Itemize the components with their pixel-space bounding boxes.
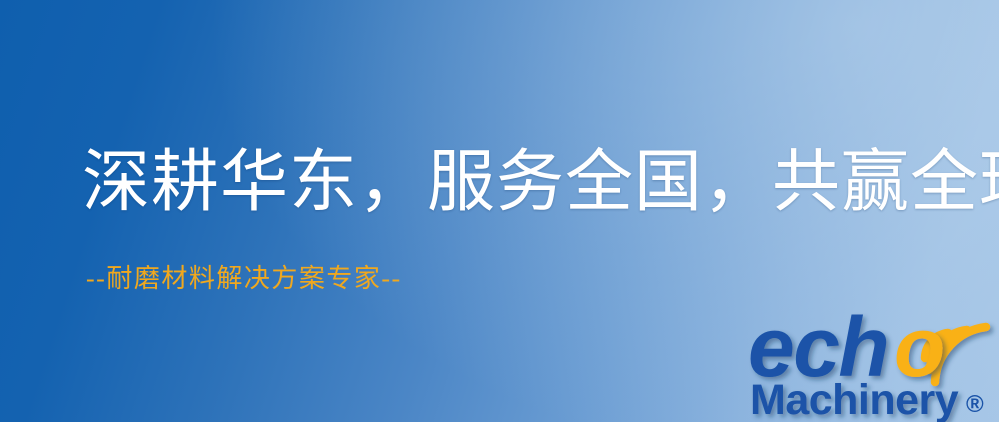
promo-banner: 深耕华东，服务全国，共赢全球 --耐磨材料解决方案专家-- ech o [0,0,999,422]
logo-tagline-machinery: Machinery [750,376,959,422]
banner-headline: 深耕华东，服务全国，共赢全球 [82,148,999,216]
echo-machinery-logo[interactable]: ech o Machinery ® [742,292,999,422]
registered-trademark-icon: ® [966,391,984,418]
banner-subtitle: --耐磨材料解决方案专家-- [86,266,402,292]
